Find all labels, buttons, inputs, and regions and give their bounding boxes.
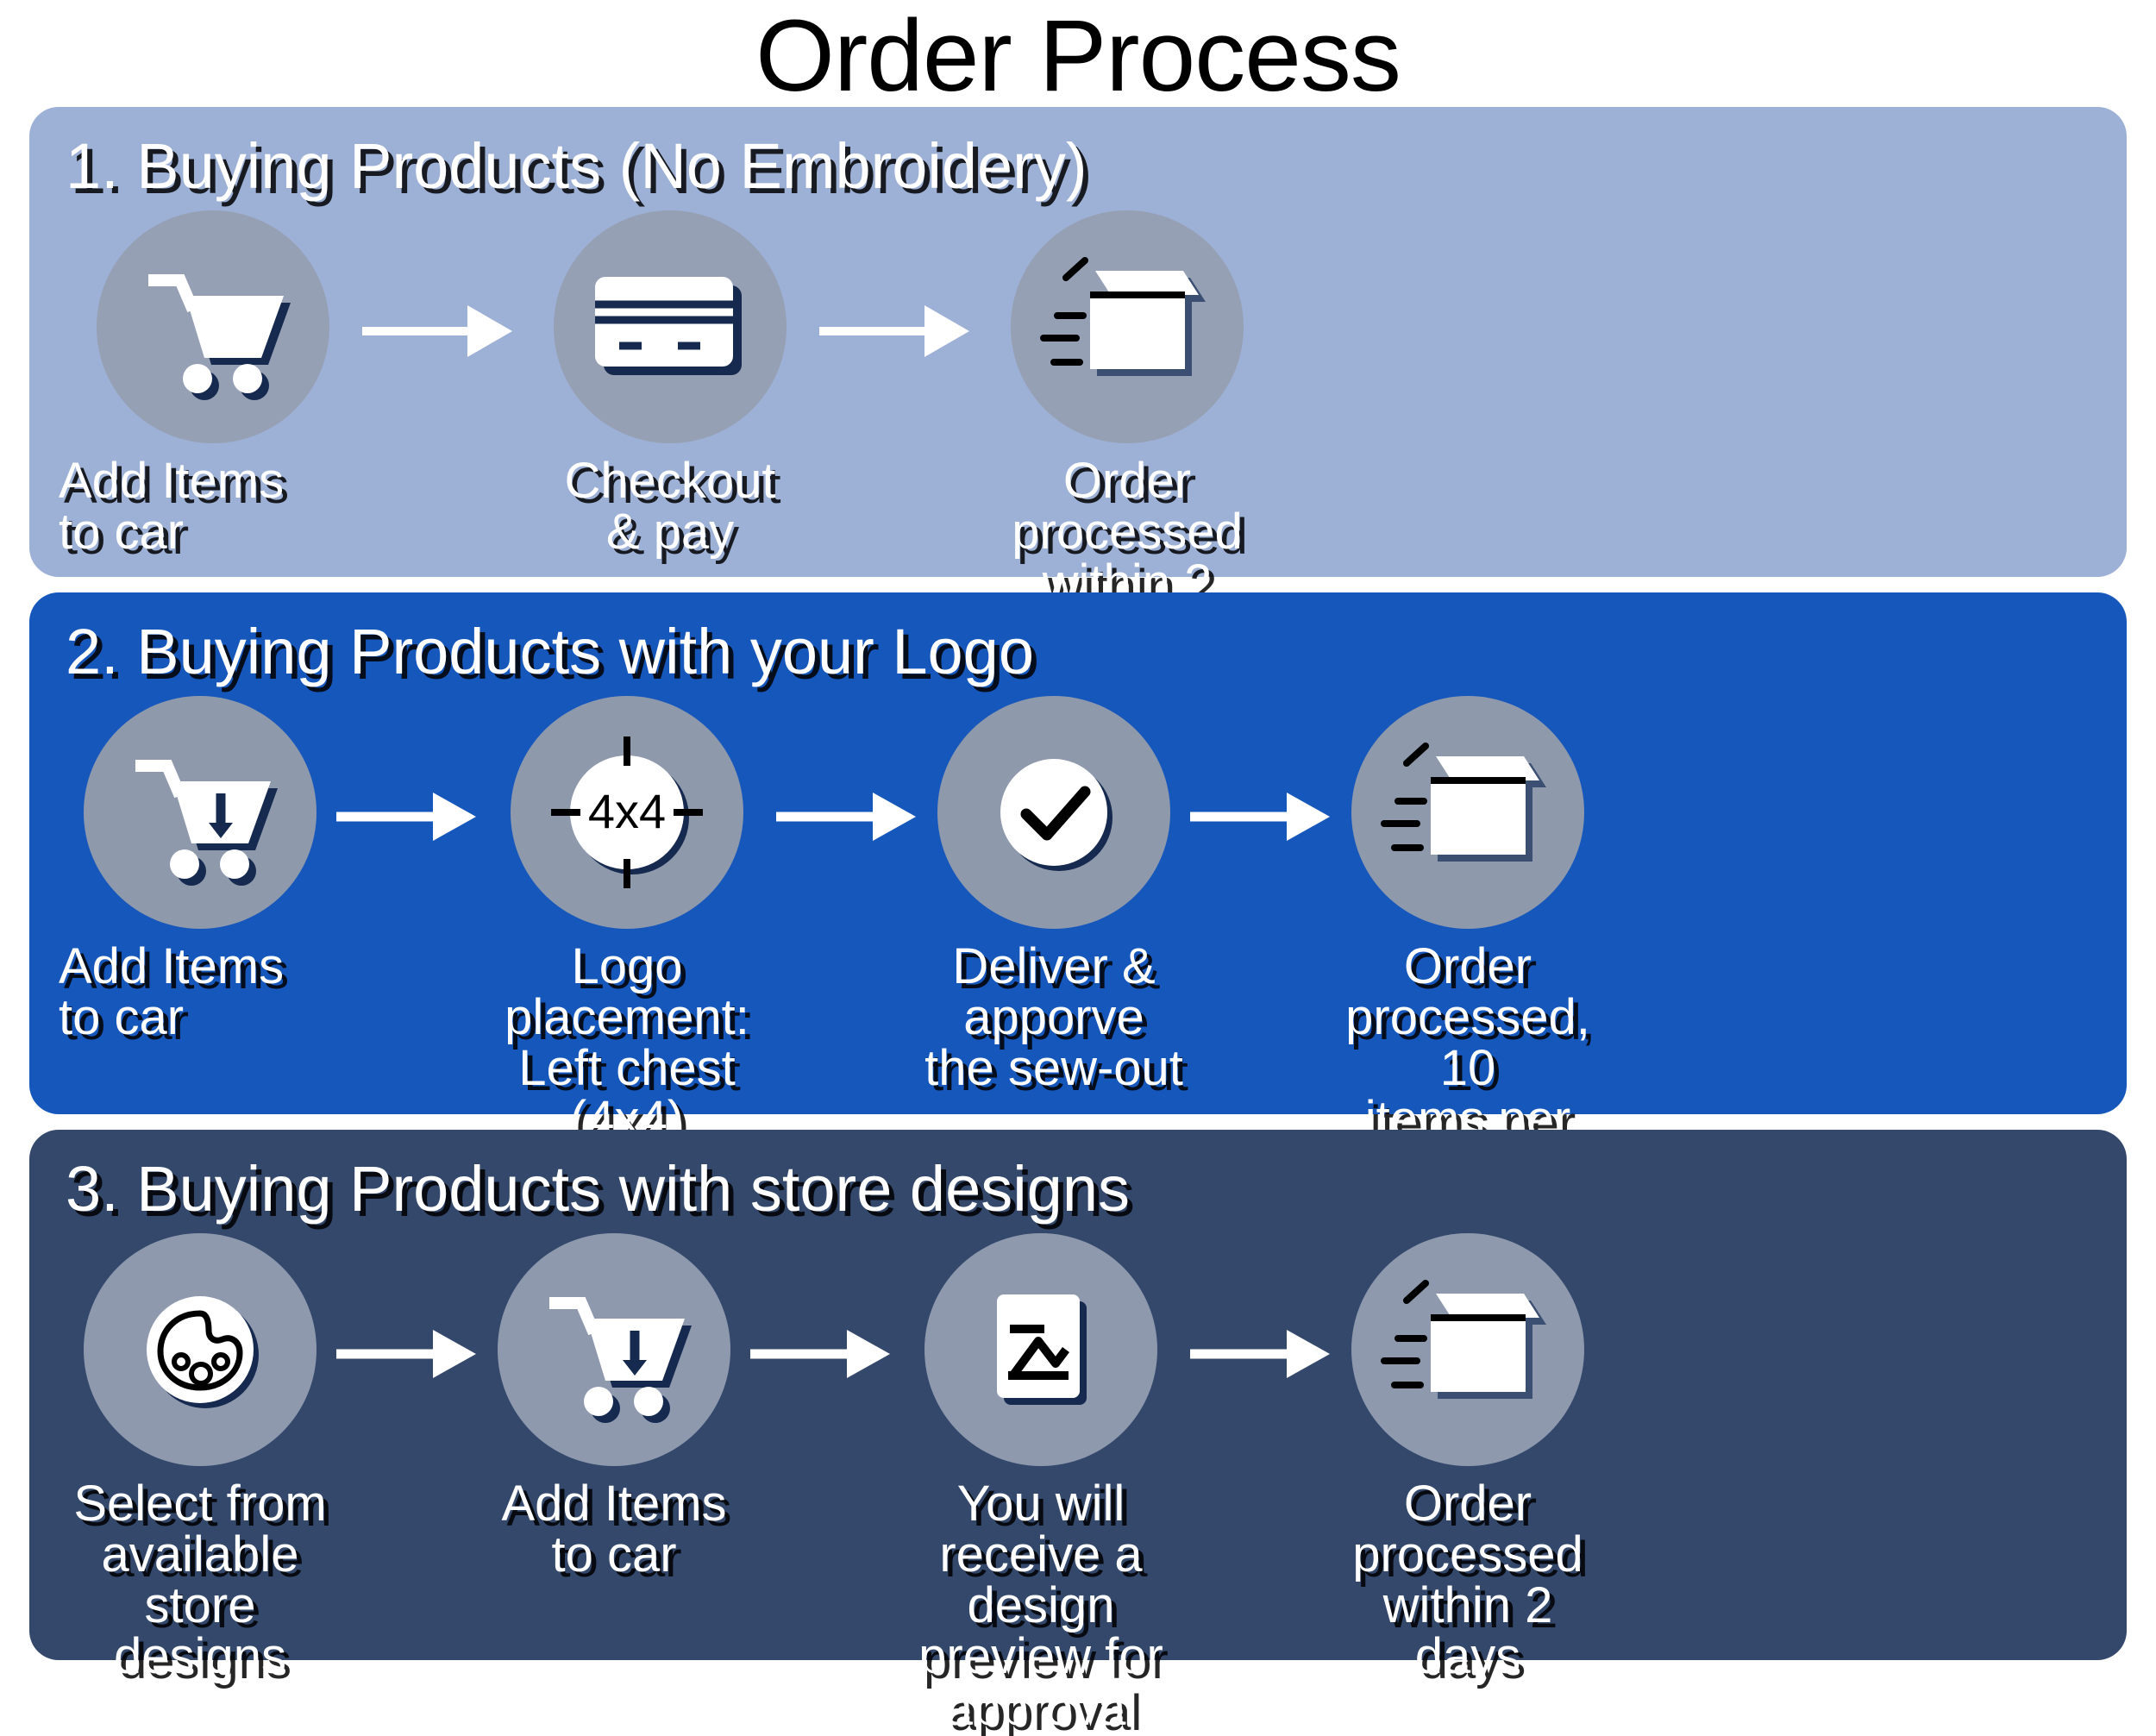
check-circle-icon xyxy=(976,735,1131,890)
design-preview-icon xyxy=(976,1281,1106,1419)
palette-icon-circle xyxy=(84,1233,317,1466)
arrow-right-icon-3a xyxy=(329,1319,485,1388)
arrow-right-icon-1a xyxy=(355,297,528,366)
section-3-heading: 3. Buying Products with store designs xyxy=(29,1138,2127,1221)
logo-placement-target-icon-circle: 4x4 xyxy=(511,696,743,929)
palette-icon xyxy=(122,1272,278,1427)
shipping-box-icon xyxy=(1045,262,1209,392)
shipping-box-icon-circle xyxy=(1011,210,1244,443)
section-3-steps: Select from available store designs xyxy=(29,1221,2127,1733)
logo-size-text: 4x4 xyxy=(588,784,666,838)
step-label: Order processed within 2 days xyxy=(1338,1478,1597,1683)
step-label: You will receive a design preview for ap… xyxy=(899,1478,1183,1733)
cart-add-icon-circle-3 xyxy=(498,1233,730,1466)
credit-card-icon xyxy=(588,266,752,387)
arrow-right-icon-2a xyxy=(329,782,485,851)
section-1-heading: 1. Buying Products (No Embroidery) xyxy=(29,116,2127,198)
step-label: Select from available store designs xyxy=(71,1478,329,1683)
step-label: Add Items to car xyxy=(501,1478,726,1580)
section-2-panel: 2. Buying Products with your Logo xyxy=(29,592,2127,1114)
step-add-items-to-cart-2[interactable]: Add Items to car xyxy=(71,696,329,1043)
shopping-cart-icon xyxy=(135,258,291,396)
step-checkout-and-pay[interactable]: Checkout & pay xyxy=(528,210,812,557)
credit-card-icon-circle xyxy=(554,210,787,443)
shipping-box-icon-circle-3 xyxy=(1351,1233,1584,1466)
design-preview-icon-circle xyxy=(924,1233,1157,1466)
step-label: Logo placement: Left chest (4x4) xyxy=(485,941,769,1145)
section-1-steps: Add Items to car xyxy=(29,198,2127,660)
step-label: Add Items to car xyxy=(59,455,284,557)
shipping-box-icon xyxy=(1386,1285,1550,1414)
step-add-items-to-cart-1[interactable]: Add Items to car xyxy=(71,210,355,557)
step-deliver-approve-sewout[interactable]: Deliver & apporve the sew-out xyxy=(924,696,1183,1094)
cart-add-icon-circle xyxy=(84,696,317,929)
cart-add-icon xyxy=(536,1281,692,1419)
page-title: Order Process xyxy=(0,0,2156,107)
step-add-items-to-cart-3[interactable]: Add Items to car xyxy=(485,1233,743,1580)
arrow-right-icon-2c xyxy=(1183,782,1338,851)
section-2-heading: 2. Buying Products with your Logo xyxy=(29,601,2127,684)
step-order-processed-2[interactable]: Order processed, 10 items per day xyxy=(1338,696,1597,1196)
section-1-panel: 1. Buying Products (No Embroidery) xyxy=(29,107,2127,577)
section-2-steps: Add Items to car xyxy=(29,684,2127,1196)
section-3-panel: 3. Buying Products with store designs xyxy=(29,1130,2127,1660)
step-order-processed-3[interactable]: Order processed within 2 days xyxy=(1338,1233,1597,1683)
check-circle-icon-circle xyxy=(937,696,1170,929)
shipping-box-icon xyxy=(1386,748,1550,877)
cart-add-icon xyxy=(122,743,278,881)
step-design-preview-approval[interactable]: You will receive a design preview for ap… xyxy=(899,1233,1183,1733)
arrow-right-icon-3c xyxy=(1183,1319,1338,1388)
step-label: Checkout & pay xyxy=(564,455,775,557)
shipping-box-icon-circle-2 xyxy=(1351,696,1584,929)
step-select-store-design[interactable]: Select from available store designs xyxy=(71,1233,329,1683)
order-process-diagram: Order Process 1. Buying Products (No Emb… xyxy=(0,0,2156,1725)
arrow-right-icon-1b xyxy=(812,297,985,366)
shopping-cart-icon-circle xyxy=(97,210,329,443)
step-logo-placement[interactable]: 4x4 Logo placement: Left chest (4x4) xyxy=(485,696,769,1145)
step-label: Deliver & apporve the sew-out xyxy=(924,941,1183,1094)
logo-placement-target-icon: 4x4 xyxy=(541,726,713,899)
arrow-right-icon-3b xyxy=(743,1319,899,1388)
step-label: Add Items to car xyxy=(59,941,284,1043)
arrow-right-icon-2b xyxy=(769,782,924,851)
